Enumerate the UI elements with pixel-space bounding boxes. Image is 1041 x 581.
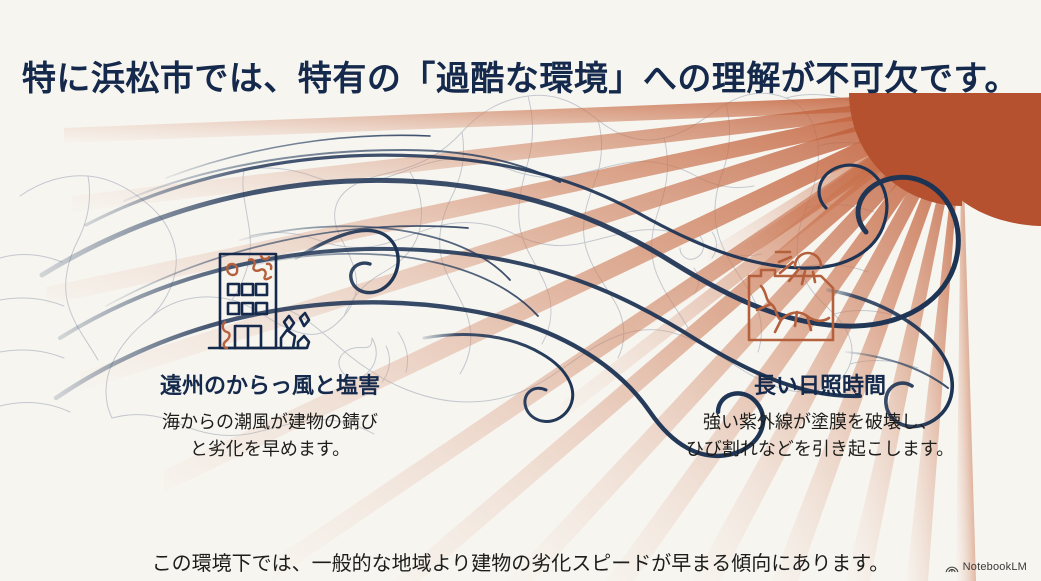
page-title: 特に浜松市では、特有の「過酷な環境」への理解が不可欠です。 [0,51,1041,100]
slide-canvas: 特に浜松市では、特有の「過酷な環境」への理解が不可欠です。 [0,0,1041,581]
block-heading-wind-salt: 遠州のからっ風と塩害 [70,372,470,400]
block-body-line: 強い紫外線が塗膜を破壊し、 [620,409,1020,436]
notebooklm-watermark-label: NotebookLM [963,561,1027,573]
block-body-sunlight: 強い紫外線が塗膜を破壊し、 ひび割れなどを引き起こします。 [620,409,1020,463]
block-body-line: ひび割れなどを引き起こします。 [620,436,1020,463]
block-body-line: と劣化を早めます。 [70,436,470,463]
cracked-wall-sun-icon [745,248,839,348]
footer-note: この環境下では、一般的な地域より建物の劣化スピードが早まる傾向にあります。 [0,547,1041,576]
block-body-line: 海からの潮風が建物の錆び [70,409,470,436]
block-body-wind-salt: 海からの潮風が建物の錆び と劣化を早めます。 [70,409,470,463]
notebooklm-logo-icon [945,561,959,573]
block-sunlight: 長い日照時間 強い紫外線が塗膜を破壊し、 ひび割れなどを引き起こします。 [620,372,1020,463]
notebooklm-watermark: NotebookLM [945,561,1027,573]
block-heading-sunlight: 長い日照時間 [620,372,1020,400]
block-wind-salt: 遠州のからっ風と塩害 海からの潮風が建物の錆び と劣化を早めます。 [70,372,470,463]
damaged-building-icon [203,246,311,356]
